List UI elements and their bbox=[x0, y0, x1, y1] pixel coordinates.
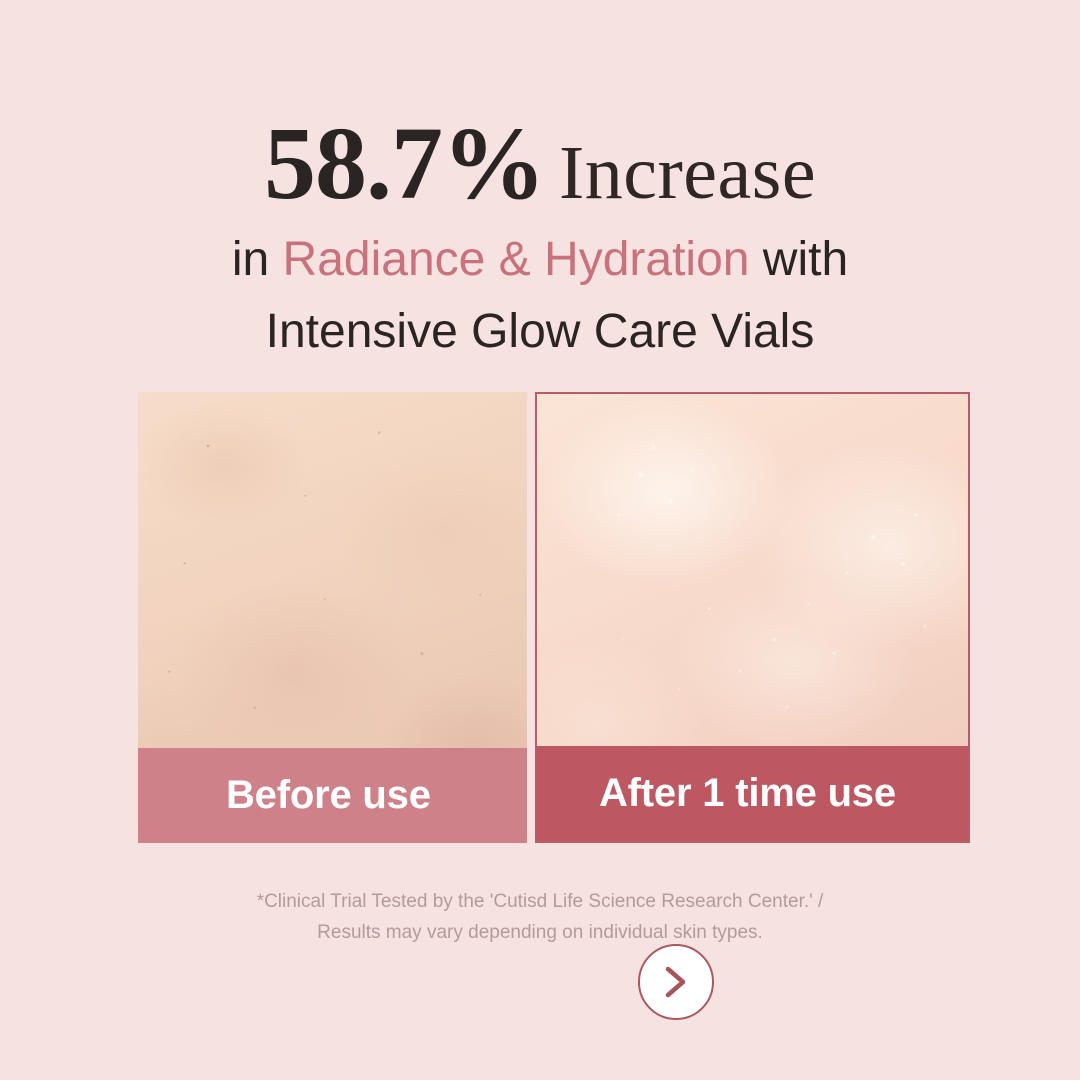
caption-after: After 1 time use bbox=[537, 746, 968, 841]
percent-suffix: Increase bbox=[559, 131, 816, 215]
headline-line-2: in Radiance & Hydration with bbox=[0, 230, 1080, 290]
panel-before: Before use bbox=[138, 392, 527, 843]
footnote-line-1: *Clinical Trial Tested by the 'Cutisd Li… bbox=[0, 886, 1080, 917]
chevron-right-icon bbox=[638, 944, 714, 1020]
headline-block: 58.7%Increase in Radiance & Hydration wi… bbox=[0, 112, 1080, 362]
line2-suffix: with bbox=[763, 233, 848, 286]
footnote-line-2: Results may vary depending on individual… bbox=[0, 917, 1080, 948]
percent-value: 58.7% bbox=[264, 106, 545, 221]
headline-line-1: 58.7%Increase bbox=[0, 112, 1080, 216]
line2-prefix: in bbox=[232, 233, 269, 286]
line2-accent: Radiance & Hydration bbox=[283, 233, 750, 286]
before-after-comparison: Before use After 1 time use bbox=[138, 392, 970, 843]
footnote-block: *Clinical Trial Tested by the 'Cutisd Li… bbox=[0, 886, 1080, 949]
headline-line-3: Intensive Glow Care Vials bbox=[0, 302, 1080, 362]
caption-before: Before use bbox=[138, 748, 527, 843]
panel-after: After 1 time use bbox=[535, 392, 970, 843]
promo-canvas: 58.7%Increase in Radiance & Hydration wi… bbox=[0, 0, 1080, 1080]
